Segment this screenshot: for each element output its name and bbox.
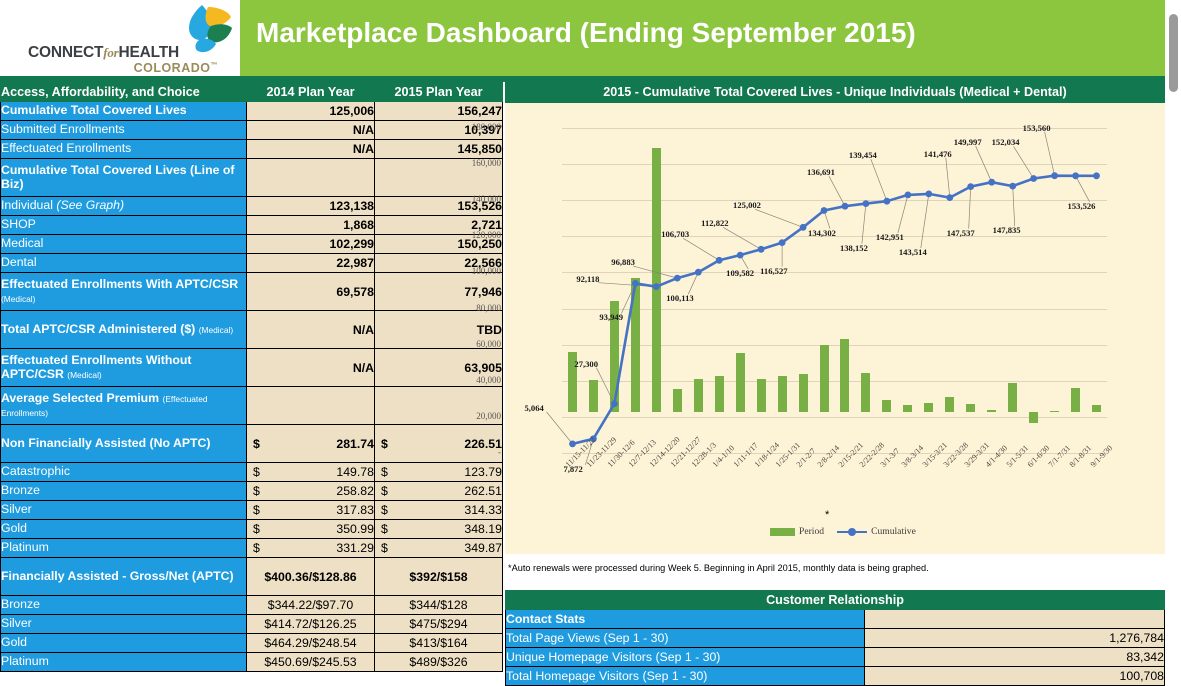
row-label-2: Effectuated Enrollments: [1, 140, 247, 159]
chart-plot-background: -20,00040,00060,00080,000100,000120,0001…: [505, 103, 1165, 554]
cell-2014-20: $414.72/$126.25: [247, 615, 375, 634]
table-row: Bronze$258.82$262.51: [1, 482, 503, 501]
cell-2014-6: 102,299: [247, 235, 375, 254]
y-axis-left-tick: 100,000: [445, 266, 501, 276]
cr-row-label-1: Total Page Views (Sep 1 - 30): [506, 629, 865, 648]
cr-row: Total Page Views (Sep 1 - 30)1,276,784: [506, 629, 1165, 648]
cell-2015-21: $413/$164: [375, 634, 503, 653]
currency-symbol: $: [253, 437, 260, 451]
table-row: Effectuated Enrollments With APTC/CSR (M…: [1, 273, 503, 311]
currency-symbol: $: [381, 541, 388, 555]
chart-asterisk-marker: *: [825, 509, 829, 521]
cell-value: 349.87: [464, 541, 502, 555]
row-label-14: Bronze: [1, 482, 247, 501]
table-row: Total APTC/CSR Administered ($) (Medical…: [1, 311, 503, 349]
cell-2015-13: $123.79: [375, 463, 503, 482]
cumulative-point-2: [611, 400, 618, 407]
table-row: Cumulative Total Covered Lives125,006156…: [1, 102, 503, 121]
table-row: Effectuated Enrollments Without APTC/CSR…: [1, 349, 503, 387]
table-row: Platinum$450.69/$245.53$489/$326: [1, 653, 503, 672]
cumulative-point-12: [821, 207, 828, 214]
data-label-leader-18: [946, 158, 950, 198]
cumulative-point-11: [800, 224, 807, 231]
cr-row-value-1: 1,276,784: [865, 629, 1165, 648]
row-label-text: Silver: [1, 616, 32, 630]
cell-2014-5: 1,868: [247, 216, 375, 235]
table-row: Catastrophic$149.78$123.79: [1, 463, 503, 482]
data-label-cumulative-13: 136,691: [807, 167, 835, 177]
cumulative-point-21: [1009, 183, 1016, 190]
cell-2015-16: $348.19: [375, 520, 503, 539]
cell-value: 350.99: [336, 522, 374, 536]
logo-colorado-text: COLORADO: [134, 61, 211, 75]
data-label-cumulative-4: 92,118: [576, 274, 599, 284]
data-label-leader-11: [755, 209, 803, 227]
cumulative-point-4: [653, 283, 660, 290]
logo-for-text: for: [103, 45, 118, 60]
cell-2014-4: 123,138: [247, 197, 375, 216]
y-axis-left-tick: 160,000: [445, 158, 501, 168]
cr-row-label-2: Unique Homepage Visitors (Sep 1 - 30): [506, 648, 865, 667]
data-label-cumulative-21: 147,835: [993, 225, 1021, 235]
data-label-leader-14: [862, 204, 866, 244]
row-label-3: Cumulative Total Covered Lives (Line of …: [1, 159, 247, 197]
chart-title: 2015 - Cumulative Total Covered Lives - …: [505, 82, 1165, 103]
table-row: Submitted EnrollmentsN/A10,397: [1, 121, 503, 140]
column-header-2015: 2015 Plan Year: [375, 83, 503, 102]
cr-header-row: Customer Relationship: [506, 591, 1165, 610]
row-label-text: Effectuated Enrollments: [1, 141, 131, 155]
cumulative-point-16: [905, 192, 912, 199]
data-label-cumulative-0: 5,064: [524, 403, 543, 413]
data-label-leader-23: [1045, 132, 1055, 176]
column-header-metric: Access, Affordability, and Choice: [1, 83, 247, 102]
table-row: Financially Assisted - Gross/Net (APTC)$…: [1, 558, 503, 596]
cell-2014-21: $464.29/$248.54: [247, 634, 375, 653]
table-row: Bronze$344.22/$97.70$344/$128: [1, 596, 503, 615]
cell-2014-3: [247, 159, 375, 197]
row-label-note: (See Graph): [56, 198, 124, 212]
row-label-text: Average Selected Premium: [1, 391, 159, 405]
cr-row: Total Homepage Visitors (Sep 1 - 30)100,…: [506, 667, 1165, 686]
data-label-cumulative-8: 109,582: [726, 268, 754, 278]
cumulative-covered-lives-chart: 2015 - Cumulative Total Covered Lives - …: [505, 82, 1165, 554]
logo-connect-text: CONNECT: [28, 44, 103, 61]
cumulative-point-25: [1093, 172, 1100, 179]
cell-value: $489/$326: [409, 655, 467, 669]
cumulative-line-path: [573, 176, 1097, 444]
row-label-text: Bronze: [1, 483, 40, 497]
currency-symbol: $: [253, 522, 260, 536]
currency-symbol: $: [381, 522, 388, 536]
data-label-leader-15: [871, 159, 887, 201]
row-label-21: Gold: [1, 634, 247, 653]
cell-2015-22: $489/$326: [375, 653, 503, 672]
row-label-text: SHOP: [1, 217, 36, 231]
cell-2014-22: $450.69/$245.53: [247, 653, 375, 672]
table-row: Effectuated EnrollmentsN/A145,850: [1, 140, 503, 159]
cell-value: 258.82: [336, 484, 374, 498]
cell-2014-2: N/A: [247, 140, 375, 159]
row-label-6: Medical: [1, 235, 247, 254]
data-label-cumulative-20: 149,997: [954, 137, 982, 147]
row-label-text: Non Financially Assisted (No APTC): [1, 436, 211, 450]
table-row: Cumulative Total Covered Lives (Line of …: [1, 159, 503, 197]
cell-value: 63,905: [464, 361, 502, 375]
access-affordability-choice-table: Access, Affordability, and Choice 2014 P…: [0, 82, 503, 672]
row-label-text: Financially Assisted - Gross/Net (APTC): [1, 569, 234, 583]
row-label-7: Dental: [1, 254, 247, 273]
cr-row-label-3: Total Homepage Visitors (Sep 1 - 30): [506, 667, 865, 686]
cell-value: $392/$158: [409, 570, 467, 584]
row-label-15: Silver: [1, 501, 247, 520]
data-label-leader-16: [898, 195, 908, 233]
cr-row-label-0: Contact Stats: [506, 610, 865, 629]
cumulative-point-18: [946, 194, 953, 201]
y-axis-left-tick: 20,000: [445, 411, 501, 421]
data-label-leader-2: [596, 368, 614, 404]
row-label-text: Gold: [1, 521, 27, 535]
table-row: Average Selected Premium (Effectuated En…: [1, 387, 503, 425]
cell-2014-16: $350.99: [247, 520, 375, 539]
cumulative-point-24: [1072, 172, 1079, 179]
cell-value: $344/$128: [409, 598, 467, 612]
customer-relationship-table: Customer Relationship Contact StatsTotal…: [505, 590, 1165, 686]
row-label-text: Medical: [1, 236, 43, 250]
data-label-leader-24: [1076, 176, 1090, 202]
cell-2014-13: $149.78: [247, 463, 375, 482]
row-label-text: Cumulative Total Covered Lives (Line of …: [1, 163, 234, 191]
cell-value: 123.79: [464, 465, 502, 479]
data-label-cumulative-7: 106,703: [661, 229, 689, 239]
row-label-text: Bronze: [1, 597, 40, 611]
cell-2015-0: 156,247: [375, 102, 503, 121]
vertical-scrollbar-track[interactable]: [1165, 0, 1181, 678]
table-row: Gold$464.29/$248.54$413/$164: [1, 634, 503, 653]
logo-wordmark: CONNECTforHEALTH COLORADO™: [28, 44, 238, 75]
logo-trademark-symbol: ™: [211, 62, 219, 69]
brand-logo: CONNECTforHEALTH COLORADO™: [0, 0, 240, 76]
data-label-cumulative-9: 112,822: [701, 218, 728, 228]
cell-2014-15: $317.83: [247, 501, 375, 520]
legend-period-swatch: [770, 528, 795, 536]
data-label-leader-9: [723, 227, 761, 249]
row-label-text: Gold: [1, 635, 27, 649]
data-label-cumulative-14: 138,152: [840, 243, 868, 253]
cumulative-point-20: [988, 179, 995, 186]
cell-2014-14: $258.82: [247, 482, 375, 501]
currency-symbol: $: [253, 465, 260, 479]
cell-value: $400.36/$128.86: [264, 570, 356, 584]
cell-value: N/A: [353, 323, 374, 337]
table-row: Silver$414.72/$126.25$475/$294: [1, 615, 503, 634]
legend-period-label: Period: [799, 526, 824, 537]
cell-value: 1,868: [343, 218, 374, 232]
currency-symbol: $: [253, 484, 260, 498]
row-label-18: Financially Assisted - Gross/Net (APTC): [1, 558, 247, 596]
table-row: Platinum$331.29$349.87: [1, 539, 503, 558]
cell-value: 69,578: [336, 285, 374, 299]
legend-cumulative-swatch: [837, 527, 867, 536]
row-label-20: Silver: [1, 615, 247, 634]
table-row: Non Financially Assisted (No APTC)$281.7…: [1, 425, 503, 463]
row-label-text: Individual: [1, 198, 53, 212]
cr-row-value-2: 83,342: [865, 648, 1165, 667]
cell-value: $414.72/$126.25: [264, 617, 356, 631]
data-label-cumulative-6: 100,113: [666, 293, 693, 303]
table-row: Medical102,299150,250: [1, 235, 503, 254]
row-label-text: Effectuated Enrollments With APTC/CSR: [1, 277, 238, 291]
data-label-cumulative-2: 27,300: [574, 359, 598, 369]
cell-value: 145,850: [458, 142, 502, 156]
y-axis-left-tick: 40,000: [445, 375, 501, 385]
currency-symbol: $: [253, 541, 260, 555]
data-label-cumulative-12: 134,302: [808, 228, 836, 238]
data-label-leader-7: [683, 238, 719, 260]
cell-2014-9: N/A: [247, 311, 375, 349]
currency-symbol: $: [253, 503, 260, 517]
data-label-cumulative-23: 153,560: [1023, 123, 1051, 133]
row-label-text: Cumulative Total Covered Lives: [1, 103, 187, 117]
cell-value: N/A: [353, 361, 374, 375]
cr-row-value-0: [865, 610, 1165, 629]
cell-2014-0: 125,006: [247, 102, 375, 121]
cell-2015-18: $392/$158: [375, 558, 503, 596]
page-title: Marketplace Dashboard (Ending September …: [256, 17, 916, 49]
cell-2014-17: $331.29: [247, 539, 375, 558]
cell-value: 314.33: [464, 503, 502, 517]
cr-row: Unique Homepage Visitors (Sep 1 - 30)83,…: [506, 648, 1165, 667]
cell-2014-10: N/A: [247, 349, 375, 387]
row-label-0: Cumulative Total Covered Lives: [1, 102, 247, 121]
cr-row-value-3: 100,708: [865, 667, 1165, 686]
data-label-cumulative-15: 139,454: [849, 150, 877, 160]
chart-plot-area: -20,00040,00060,00080,000100,000120,0001…: [562, 128, 1107, 453]
table-row: Gold$350.99$348.19: [1, 520, 503, 539]
cell-value: 125,006: [330, 104, 374, 118]
cell-2014-8: 69,578: [247, 273, 375, 311]
data-label-leader-21: [1013, 186, 1015, 226]
cell-2014-1: N/A: [247, 121, 375, 140]
cumulative-point-13: [842, 203, 849, 210]
table-header-row: Access, Affordability, and Choice 2014 P…: [1, 83, 503, 102]
row-label-sub: (Medical): [1, 294, 35, 304]
cumulative-point-7: [716, 257, 723, 264]
data-label-leader-13: [829, 176, 845, 206]
row-label-text: Total APTC/CSR Administered ($): [1, 322, 195, 336]
row-label-17: Platinum: [1, 539, 247, 558]
cumulative-point-22: [1030, 175, 1037, 182]
data-label-leader-22: [1014, 147, 1034, 179]
data-label-cumulative-3: 93,949: [599, 312, 623, 322]
cell-2015-14: $262.51: [375, 482, 503, 501]
row-label-13: Catastrophic: [1, 463, 247, 482]
data-label-leader-20: [976, 146, 992, 182]
row-label-sub: (Medical): [67, 370, 101, 380]
data-label-cumulative-5: 96,883: [611, 257, 635, 267]
row-label-text: Catastrophic: [1, 464, 70, 478]
vertical-scrollbar-thumb[interactable]: [1169, 14, 1178, 92]
row-label-text: Platinum: [1, 654, 49, 668]
row-label-text: Submitted Enrollments: [1, 122, 125, 136]
cell-value: N/A: [353, 142, 374, 156]
cell-value: 22,987: [336, 256, 374, 270]
cell-2014-19: $344.22/$97.70: [247, 596, 375, 615]
cell-value: $450.69/$245.53: [264, 655, 356, 669]
row-label-22: Platinum: [1, 653, 247, 672]
row-label-9: Total APTC/CSR Administered ($) (Medical…: [1, 311, 247, 349]
cumulative-point-5: [674, 275, 681, 282]
data-label-leader-19: [969, 187, 971, 229]
row-label-text: Silver: [1, 502, 32, 516]
cell-value: 262.51: [464, 484, 502, 498]
cumulative-point-14: [863, 200, 870, 207]
y-axis-left-tick: 80,000: [445, 303, 501, 313]
table-row: Dental22,98722,566: [1, 254, 503, 273]
row-label-11: Average Selected Premium (Effectuated En…: [1, 387, 247, 425]
cell-value: 348.19: [464, 522, 502, 536]
cell-value: $413/$164: [409, 636, 467, 650]
row-label-12: Non Financially Assisted (No APTC): [1, 425, 247, 463]
row-label-sub: (Medical): [199, 325, 233, 335]
data-label-cumulative-24: 153,526: [1068, 201, 1096, 211]
y-axis-left-tick: 140,000: [445, 194, 501, 204]
data-label-cumulative-22: 152,034: [992, 137, 1020, 147]
cr-title: Customer Relationship: [506, 591, 1165, 610]
cumulative-point-9: [758, 246, 765, 253]
cumulative-point-8: [737, 252, 744, 259]
row-label-19: Bronze: [1, 596, 247, 615]
cumulative-point-0: [569, 441, 576, 448]
dashboard-header: CONNECTforHEALTH COLORADO™ Marketplace D…: [0, 0, 1181, 82]
cell-value: $475/$294: [409, 617, 467, 631]
cell-2015-19: $344/$128: [375, 596, 503, 615]
y-axis-left-tick: 60,000: [445, 339, 501, 349]
data-label-cumulative-18: 141,476: [924, 149, 952, 159]
cell-value: $344.22/$97.70: [268, 598, 353, 612]
cell-2015-2: 145,850: [375, 140, 503, 159]
cell-value: 102,299: [330, 237, 374, 251]
row-label-text: Dental: [1, 255, 37, 269]
cell-2015-17: $349.87: [375, 539, 503, 558]
cumulative-point-15: [884, 198, 891, 205]
y-axis-left-tick: -: [445, 447, 501, 457]
cumulative-point-6: [695, 269, 702, 276]
currency-symbol: $: [381, 437, 388, 451]
cell-2015-20: $475/$294: [375, 615, 503, 634]
cell-value: 77,946: [464, 285, 502, 299]
data-label-leader-5: [633, 266, 677, 278]
data-label-cumulative-17: 143,514: [899, 247, 927, 257]
data-label-leader-0: [547, 412, 573, 444]
table-row: Silver$317.83$314.33: [1, 501, 503, 520]
cell-2014-12: $281.74: [247, 425, 375, 463]
y-axis-left-tick: 120,000: [445, 230, 501, 240]
cell-value: 123,138: [330, 199, 374, 213]
cumulative-point-17: [925, 191, 932, 198]
column-header-2014: 2014 Plan Year: [247, 83, 375, 102]
cumulative-point-23: [1051, 172, 1058, 179]
cumulative-point-3: [632, 280, 639, 287]
chart-legend: PeriodCumulative: [770, 526, 929, 537]
cell-value: N/A: [353, 123, 374, 137]
chart-footnote: *Auto renewals were processed during Wee…: [508, 563, 1108, 573]
row-label-5: SHOP: [1, 216, 247, 235]
cell-value: 281.74: [336, 437, 374, 451]
cell-value: TBD: [477, 323, 502, 337]
cell-value: 149.78: [336, 465, 374, 479]
cumulative-point-19: [967, 183, 974, 190]
legend-cumulative-label: Cumulative: [871, 526, 916, 537]
cell-value: 317.83: [336, 503, 374, 517]
data-label-leader-17: [921, 194, 929, 248]
cell-value: $464.29/$248.54: [264, 636, 356, 650]
data-label-cumulative-11: 125,002: [733, 200, 761, 210]
row-label-4: Individual (See Graph): [1, 197, 247, 216]
logo-health-text: HEALTH: [119, 44, 180, 61]
data-label-cumulative-19: 147,537: [947, 228, 975, 238]
currency-symbol: $: [381, 503, 388, 517]
data-label-cumulative-16: 142,951: [876, 232, 904, 242]
cell-2014-18: $400.36/$128.86: [247, 558, 375, 596]
cell-2015-15: $314.33: [375, 501, 503, 520]
row-label-1: Submitted Enrollments: [1, 121, 247, 140]
table-row: Individual (See Graph)123,138153,526: [1, 197, 503, 216]
row-label-text: Platinum: [1, 540, 49, 554]
row-label-16: Gold: [1, 520, 247, 539]
cumulative-point-10: [779, 239, 786, 246]
currency-symbol: $: [381, 465, 388, 479]
currency-symbol: $: [381, 484, 388, 498]
cr-row: Contact Stats: [506, 610, 1165, 629]
row-label-10: Effectuated Enrollments Without APTC/CSR…: [1, 349, 247, 387]
title-banner: Marketplace Dashboard (Ending September …: [240, 0, 1165, 76]
data-label-cumulative-10: 116,527: [760, 266, 787, 276]
cell-2014-11: [247, 387, 375, 425]
cell-2014-7: 22,987: [247, 254, 375, 273]
cell-value: 331.29: [336, 541, 374, 555]
y-axis-left-tick: 180,000: [445, 122, 501, 132]
cell-value: 156,247: [458, 104, 502, 118]
row-label-8: Effectuated Enrollments With APTC/CSR (M…: [1, 273, 247, 311]
table-row: SHOP1,8682,721: [1, 216, 503, 235]
